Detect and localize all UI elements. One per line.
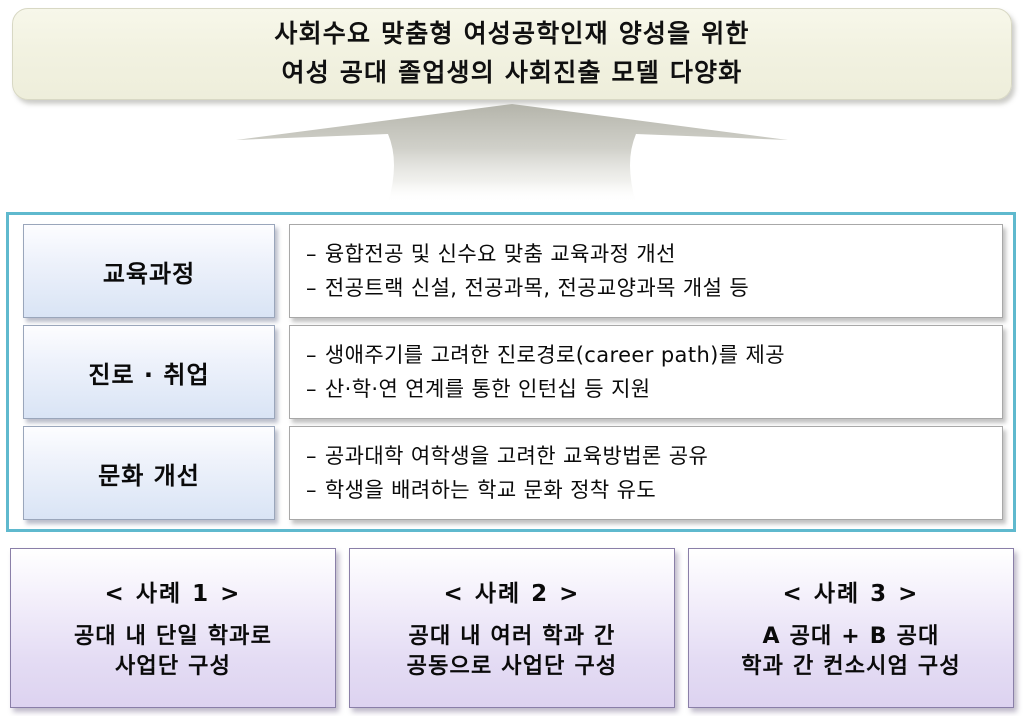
bullet-item: –융합전공 및 신수요 맞춤 교육과정 개선 [306, 237, 992, 271]
diagram-canvas: 사회수요 맞춤형 여성공학인재 양성을 위한 여성 공대 졸업생의 사회진출 모… [0, 0, 1024, 716]
case-card-1[interactable]: < 사례 1 > 공대 내 단일 학과로 사업단 구성 [10, 548, 336, 708]
bullet-dash: – [306, 343, 317, 367]
strategy-panel: 교육과정 –융합전공 및 신수요 맞춤 교육과정 개선 –전공트랙 신설, 전공… [6, 212, 1016, 532]
case-line-1: A 공대 + B 공대 [762, 622, 939, 652]
bullet-dash: – [306, 444, 317, 468]
case-card-3[interactable]: < 사례 3 > A 공대 + B 공대 학과 간 컨소시엄 구성 [688, 548, 1014, 708]
case-title: < 사례 3 > [783, 574, 920, 608]
case-line-1: 공대 내 단일 학과로 [74, 622, 272, 652]
case-title: < 사례 1 > [105, 574, 242, 608]
case-card-2[interactable]: < 사례 2 > 공대 내 여러 학과 간 공동으로 사업단 구성 [349, 548, 675, 708]
title-line-2: 여성 공대 졸업생의 사회진출 모델 다양화 [282, 54, 743, 93]
bullet-text: 공과대학 여학생을 고려한 교육방법론 공유 [325, 444, 708, 468]
case-line-1: 공대 내 여러 학과 간 [409, 622, 616, 652]
bullet-text: 융합전공 및 신수요 맞춤 교육과정 개선 [325, 242, 676, 266]
bullet-item: –공과대학 여학생을 고려한 교육방법론 공유 [306, 439, 992, 473]
row-content-career: –생애주기를 고려한 진로경로(career path)를 제공 –산·학·연 … [289, 325, 1003, 419]
case-card-group: < 사례 1 > 공대 내 단일 학과로 사업단 구성 < 사례 2 > 공대 … [10, 548, 1014, 708]
title-banner: 사회수요 맞춤형 여성공학인재 양성을 위한 여성 공대 졸업생의 사회진출 모… [12, 8, 1012, 100]
panel-row: 교육과정 –융합전공 및 신수요 맞춤 교육과정 개선 –전공트랙 신설, 전공… [23, 224, 1003, 318]
bullet-text: 생애주기를 고려한 진로경로(career path)를 제공 [325, 343, 785, 367]
row-content-curriculum: –융합전공 및 신수요 맞춤 교육과정 개선 –전공트랙 신설, 전공과목, 전… [289, 224, 1003, 318]
bullet-text: 산·학·연 연계를 통한 인턴십 등 지원 [325, 377, 651, 401]
panel-row: 진로 · 취업 –생애주기를 고려한 진로경로(career path)를 제공… [23, 325, 1003, 419]
bullet-dash: – [306, 276, 317, 300]
bullet-item: –산·학·연 연계를 통한 인턴십 등 지원 [306, 372, 992, 406]
case-line-2: 학과 간 컨소시엄 구성 [741, 652, 961, 682]
row-content-culture: –공과대학 여학생을 고려한 교육방법론 공유 –학생을 배려하는 학교 문화 … [289, 426, 1003, 520]
case-line-2: 사업단 구성 [115, 652, 231, 682]
row-label-career[interactable]: 진로 · 취업 [23, 325, 275, 419]
bullet-text: 전공트랙 신설, 전공과목, 전공교양과목 개설 등 [325, 276, 749, 300]
bullet-dash: – [306, 377, 317, 401]
panel-row: 문화 개선 –공과대학 여학생을 고려한 교육방법론 공유 –학생을 배려하는 … [23, 426, 1003, 520]
bullet-item: –전공트랙 신설, 전공과목, 전공교양과목 개설 등 [306, 271, 992, 305]
title-line-1: 사회수요 맞춤형 여성공학인재 양성을 위한 [274, 15, 749, 54]
row-label-curriculum[interactable]: 교육과정 [23, 224, 275, 318]
bullet-item: –생애주기를 고려한 진로경로(career path)를 제공 [306, 338, 992, 372]
bullet-text: 학생을 배려하는 학교 문화 정착 유도 [325, 478, 656, 502]
case-title: < 사례 2 > [444, 574, 581, 608]
up-arrow-icon [232, 100, 792, 205]
case-line-2: 공동으로 사업단 구성 [407, 652, 618, 682]
row-label-culture[interactable]: 문화 개선 [23, 426, 275, 520]
bullet-dash: – [306, 242, 317, 266]
bullet-item: –학생을 배려하는 학교 문화 정착 유도 [306, 473, 992, 507]
bullet-dash: – [306, 478, 317, 502]
